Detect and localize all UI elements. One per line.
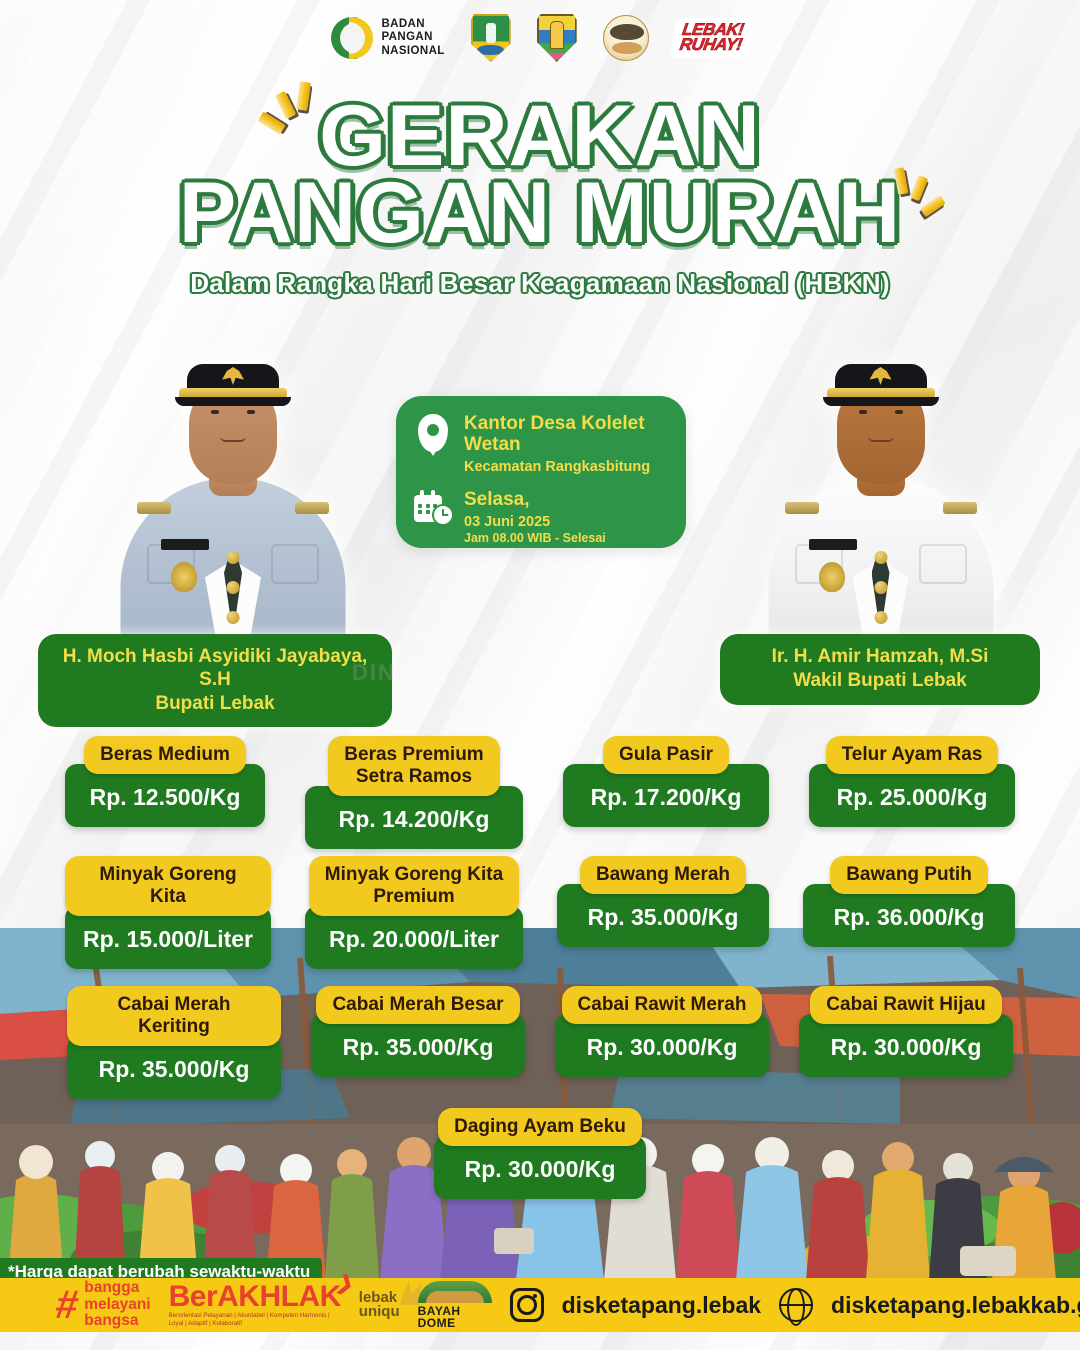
lebak-unique-line-2: uniqu (359, 1305, 400, 1319)
price-card-label: Telur Ayam Ras (826, 736, 999, 774)
sparkle-left-icon (262, 82, 332, 150)
lebak-unique-logo: lebak uniqu (359, 1291, 400, 1320)
price-card-label: Cabai Merah Keriting (67, 986, 281, 1046)
bupati-role: Bupati Lebak (48, 692, 382, 716)
event-time: Jam 08.00 WIB - Selesai (464, 531, 606, 547)
event-day: Selasa, (464, 490, 606, 511)
badan-pangan-nasional-logo: BADAN PANGAN NASIONAL (331, 17, 444, 59)
instagram-icon[interactable] (510, 1288, 544, 1322)
berakhlak-title: BerAKHLAK ❯ (169, 1282, 341, 1312)
price-card-label: Gula Pasir (603, 736, 729, 774)
price-card-label: Cabai Rawit Hijau (810, 986, 1001, 1024)
price-card: Beras Premium Setra Ramos Rp. 14.200/Kg (305, 736, 523, 849)
price-card: Gula Pasir Rp. 17.200/Kg (563, 736, 769, 849)
price-card: Daging Ayam Beku Rp. 30.000/Kg (434, 1108, 646, 1199)
location-pin-icon (414, 414, 452, 458)
website-url[interactable]: disketapang.lebakkab.go.id (831, 1292, 1080, 1319)
berakhlak-text: BerAKHLAK (169, 1280, 341, 1313)
watermark-text: DIN (352, 660, 396, 686)
bangga-line-3: bangsa (84, 1313, 150, 1329)
bayah-dome-icon (418, 1281, 492, 1303)
banten-crest-icon (471, 14, 511, 62)
bpn-line-2: PANGAN (381, 31, 444, 44)
bayah-dome-label: BAYAH DOME (418, 1305, 492, 1329)
event-location-row: Kantor Desa Kolelet Wetan Kecamatan Rang… (414, 414, 670, 476)
price-card: Beras Medium Rp. 12.500/Kg (65, 736, 265, 849)
bpn-logo-text: BADAN PANGAN NASIONAL (381, 18, 444, 58)
price-card: Cabai Rawit Hijau Rp. 30.000/Kg (799, 986, 1013, 1099)
ruhay-line-2: RUHAY! (678, 38, 742, 53)
bangga-line-2: melayani (84, 1297, 150, 1313)
portrait-bupati (108, 356, 358, 646)
price-card-label: Minyak Goreng Kita (65, 856, 271, 916)
logo-bar: BADAN PANGAN NASIONAL LEBAK! RUHAY! (0, 14, 1080, 62)
lebak-crest-icon (537, 14, 577, 62)
pesona-lebak-seal-logo (603, 15, 649, 61)
market-illustration (0, 928, 1080, 1280)
event-district: Kecamatan Rangkasbitung (464, 458, 670, 476)
poster-root: BADAN PANGAN NASIONAL LEBAK! RUHAY! (0, 0, 1080, 1350)
bpn-line-3: NASIONAL (381, 45, 444, 58)
price-card-label: Bawang Merah (580, 856, 746, 894)
name-banner-wakil-bupati: Ir. H. Amir Hamzah, M.Si Wakil Bupati Le… (720, 634, 1040, 705)
globe-icon[interactable] (779, 1288, 813, 1322)
official-cap-icon (175, 364, 291, 408)
price-card-label: Cabai Rawit Merah (562, 986, 763, 1024)
price-card-label: Beras Medium (84, 736, 246, 774)
portrait-wakil-bupati (748, 356, 1013, 646)
banten-province-crest-logo (471, 14, 511, 62)
wakil-bupati-role: Wakil Bupati Lebak (730, 669, 1030, 693)
lebak-ruhay-logo: LEBAK! RUHAY! (672, 20, 752, 56)
berakhlak-logo: BerAKHLAK ❯ Berorientasi Pelayanan | Aku… (169, 1282, 341, 1328)
bpn-line-1: BADAN (381, 18, 444, 31)
price-card: Bawang Merah Rp. 35.000/Kg (557, 856, 769, 969)
lebak-regency-crest-logo (537, 14, 577, 62)
name-banner-bupati: H. Moch Hasbi Asyidiki Jayabaya, S.H Bup… (38, 634, 392, 727)
official-cap-icon (823, 364, 939, 408)
price-card: Cabai Merah Keriting Rp. 35.000/Kg (67, 986, 281, 1099)
event-venue: Kantor Desa Kolelet Wetan (464, 414, 670, 456)
berakhlak-subtitle: Berorientasi Pelayanan | Akuntabel | Kom… (169, 1312, 341, 1328)
sparkle-right-icon (890, 168, 952, 230)
footer-bar: # bangga melayani bangsa BerAKHLAK ❯ Ber… (0, 1278, 1080, 1332)
bangga-line-1: bangga (84, 1280, 150, 1296)
pesona-lebak-icon (603, 15, 649, 61)
bupati-name: H. Moch Hasbi Asyidiki Jayabaya, S.H (48, 646, 382, 692)
price-card: Minyak Goreng Kita Rp. 15.000/Liter (65, 856, 271, 969)
price-card-label: Beras Premium Setra Ramos (328, 736, 499, 796)
bayah-dome-logo: BAYAH DOME (418, 1281, 492, 1329)
price-card: Telur Ayam Ras Rp. 25.000/Kg (809, 736, 1015, 849)
price-card: Minyak Goreng Kita Premium Rp. 20.000/Li… (305, 856, 523, 969)
bangga-melayani-bangsa-logo: # bangga melayani bangsa (56, 1280, 151, 1329)
price-card-label: Cabai Merah Besar (316, 986, 519, 1024)
price-card: Cabai Rawit Merah Rp. 30.000/Kg (555, 986, 769, 1099)
title-subtitle: Dalam Rangka Hari Besar Keagamaan Nasion… (0, 268, 1080, 299)
price-card-label: Minyak Goreng Kita Premium (309, 856, 519, 916)
event-info-card: Kantor Desa Kolelet Wetan Kecamatan Rang… (396, 396, 686, 548)
price-card: Bawang Putih Rp. 36.000/Kg (803, 856, 1015, 969)
hashtag-icon: # (53, 1285, 81, 1325)
event-datetime-row: Selasa, 03 Juni 2025 Jam 08.00 WIB - Sel… (414, 490, 670, 547)
calendar-clock-icon (414, 490, 452, 534)
price-card-label: Daging Ayam Beku (438, 1108, 642, 1146)
instagram-handle[interactable]: disketapang.lebak (562, 1292, 761, 1319)
event-date: 03 Juni 2025 (464, 513, 606, 531)
bpn-mark-icon (331, 17, 373, 59)
price-card-label: Bawang Putih (830, 856, 988, 894)
lebak-ruhay-text: LEBAK! RUHAY! (678, 23, 745, 53)
wakil-bupati-name: Ir. H. Amir Hamzah, M.Si (730, 646, 1030, 669)
price-card: Cabai Merah Besar Rp. 35.000/Kg (311, 986, 525, 1099)
